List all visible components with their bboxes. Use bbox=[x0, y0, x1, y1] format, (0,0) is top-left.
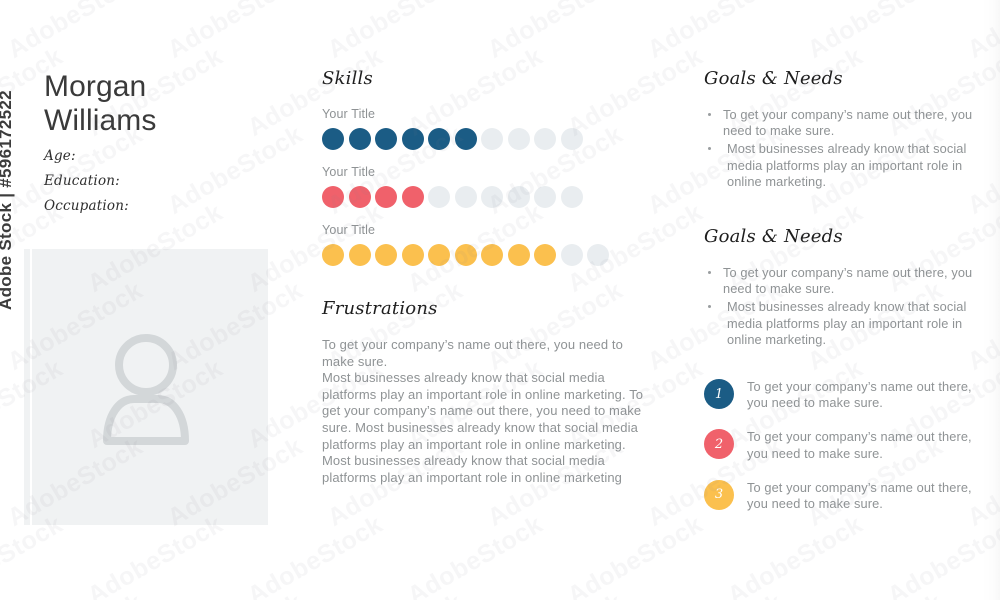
skill-dot-empty[interactable] bbox=[561, 186, 583, 208]
skill-dot-empty[interactable] bbox=[508, 128, 530, 150]
skill-dot-empty[interactable] bbox=[428, 186, 450, 208]
skill-dot-empty[interactable] bbox=[455, 186, 477, 208]
skill-dot-filled[interactable] bbox=[322, 128, 344, 150]
skill-row: Your Title bbox=[322, 165, 652, 208]
frustrations-body: To get your company’s name out there, yo… bbox=[322, 337, 652, 486]
list-item-text: To get your company’s name out there, yo… bbox=[747, 479, 982, 512]
persona-field-age: Age: bbox=[44, 144, 294, 169]
skill-label: Your Title bbox=[322, 107, 652, 121]
skill-dot-filled[interactable] bbox=[534, 244, 556, 266]
skill-dot-empty[interactable] bbox=[534, 128, 556, 150]
list-item-text: To get your company’s name out there, yo… bbox=[723, 265, 972, 296]
skill-dot-filled[interactable] bbox=[428, 244, 450, 266]
skill-rating-dots[interactable] bbox=[322, 128, 652, 150]
list-item: Most businesses already know that social… bbox=[704, 141, 982, 190]
skill-dot-empty[interactable] bbox=[561, 128, 583, 150]
numbered-points-list: 1 To get your company’s name out there, … bbox=[704, 378, 982, 512]
list-item: Most businesses already know that social… bbox=[704, 299, 982, 348]
list-item-text: To get your company’s name out there, yo… bbox=[747, 428, 982, 461]
skill-dot-filled[interactable] bbox=[481, 244, 503, 266]
list-item: To get your company’s name out there, yo… bbox=[704, 265, 982, 297]
list-item: To get your company’s name out there, yo… bbox=[704, 107, 982, 139]
number-badge-1: 1 bbox=[704, 379, 734, 409]
avatar bbox=[24, 249, 268, 525]
skill-dot-filled[interactable] bbox=[375, 128, 397, 150]
number-badge-3: 3 bbox=[704, 480, 734, 510]
page-title: Morgan Williams bbox=[44, 70, 214, 138]
person-placeholder-icon bbox=[94, 329, 198, 445]
skill-dot-filled[interactable] bbox=[428, 128, 450, 150]
frustrations-heading: Frustrations bbox=[322, 298, 652, 319]
skills-heading: Skills bbox=[322, 68, 652, 89]
bullet-icon bbox=[708, 271, 711, 274]
persona-identity-column: Morgan Williams Age: Education: Occupati… bbox=[44, 70, 294, 219]
goals-section: Goals & Needs To get your company’s name… bbox=[704, 68, 982, 190]
goals-heading: Goals & Needs bbox=[704, 68, 982, 89]
watermark-id-label: Adobe Stock | #596172522 bbox=[0, 90, 16, 310]
skill-dot-filled[interactable] bbox=[402, 244, 424, 266]
skill-row: Your Title bbox=[322, 107, 652, 150]
list-item-text: Most businesses already know that social… bbox=[727, 141, 966, 188]
skill-rating-dots[interactable] bbox=[322, 244, 652, 266]
skill-dot-filled[interactable] bbox=[322, 186, 344, 208]
skill-dot-empty[interactable] bbox=[481, 186, 503, 208]
list-item-text: Most businesses already know that social… bbox=[727, 299, 966, 346]
skill-dot-empty[interactable] bbox=[481, 128, 503, 150]
skill-dot-filled[interactable] bbox=[455, 244, 477, 266]
persona-poster-canvas: Morgan Williams Age: Education: Occupati… bbox=[0, 0, 1000, 600]
skill-dot-filled[interactable] bbox=[349, 186, 371, 208]
list-item: 3 To get your company’s name out there, … bbox=[704, 479, 982, 512]
persona-field-education: Education: bbox=[44, 169, 294, 194]
skill-dot-filled[interactable] bbox=[508, 244, 530, 266]
list-item-text: To get your company’s name out there, yo… bbox=[723, 107, 972, 138]
goals-section: Goals & Needs To get your company’s name… bbox=[704, 226, 982, 348]
persona-field-occupation: Occupation: bbox=[44, 194, 294, 219]
skill-dot-empty[interactable] bbox=[534, 186, 556, 208]
frustrations-section: Frustrations To get your company’s name … bbox=[322, 298, 652, 486]
skill-dot-filled[interactable] bbox=[322, 244, 344, 266]
skill-dot-filled[interactable] bbox=[402, 186, 424, 208]
list-item: 2 To get your company’s name out there, … bbox=[704, 428, 982, 461]
skill-row: Your Title bbox=[322, 223, 652, 266]
bullet-icon bbox=[708, 113, 711, 116]
skill-dot-empty[interactable] bbox=[508, 186, 530, 208]
number-badge-2: 2 bbox=[704, 429, 734, 459]
skill-dot-filled[interactable] bbox=[455, 128, 477, 150]
skill-dot-filled[interactable] bbox=[375, 244, 397, 266]
page-edge bbox=[982, 0, 1000, 600]
skill-dot-empty[interactable] bbox=[561, 244, 583, 266]
skill-dot-filled[interactable] bbox=[375, 186, 397, 208]
goals-column: Goals & Needs To get your company’s name… bbox=[704, 68, 982, 529]
list-item-text: To get your company’s name out there, yo… bbox=[747, 378, 982, 411]
goals-heading: Goals & Needs bbox=[704, 226, 982, 247]
list-item: 1 To get your company’s name out there, … bbox=[704, 378, 982, 411]
skill-label: Your Title bbox=[322, 165, 652, 179]
skills-column: Skills Your Title Your Title Your Title … bbox=[322, 68, 652, 486]
skill-rating-dots[interactable] bbox=[322, 186, 652, 208]
skill-dot-empty[interactable] bbox=[587, 244, 609, 266]
bullet-icon bbox=[708, 305, 711, 308]
bullet-icon bbox=[708, 147, 711, 150]
skill-label: Your Title bbox=[322, 223, 652, 237]
skill-dot-filled[interactable] bbox=[349, 244, 371, 266]
skill-dot-filled[interactable] bbox=[402, 128, 424, 150]
goals-list: To get your company’s name out there, yo… bbox=[704, 107, 982, 190]
goals-list: To get your company’s name out there, yo… bbox=[704, 265, 982, 348]
skill-dot-filled[interactable] bbox=[349, 128, 371, 150]
watermark-divider bbox=[30, 0, 32, 600]
